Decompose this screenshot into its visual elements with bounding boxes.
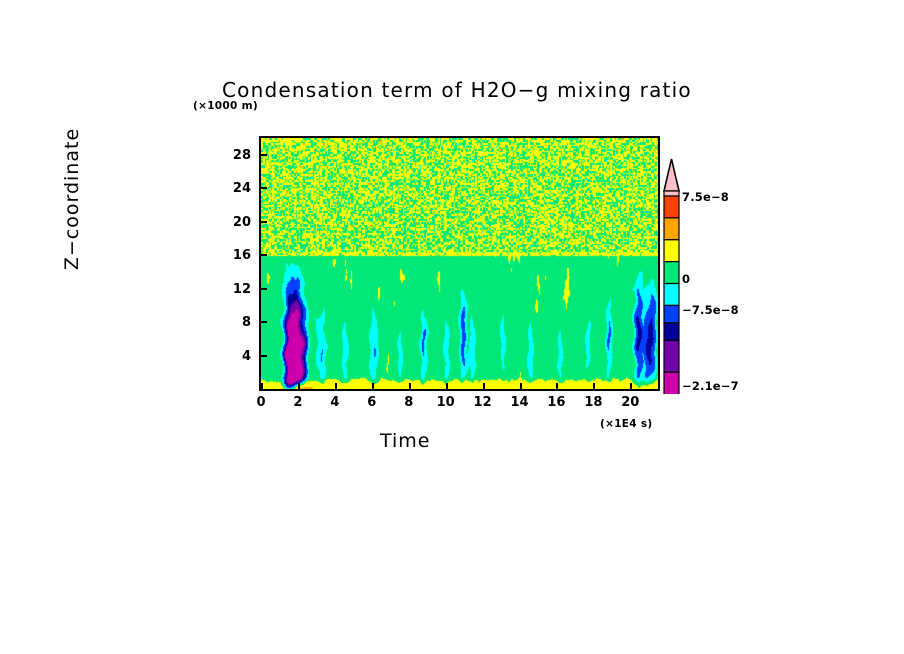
x-tick-mark (556, 383, 558, 389)
y-tick-mark (261, 154, 267, 156)
x-tick-label: 6 (360, 395, 384, 410)
y-axis-units: (×1000 m) (193, 100, 258, 112)
x-tick-label: 10 (434, 395, 458, 410)
x-tick-label: 0 (249, 395, 273, 410)
colorbar-tick-label: 0 (682, 272, 690, 286)
x-tick-mark (520, 383, 522, 389)
x-tick-mark (261, 383, 263, 389)
figure-canvas: Condensation term of H2O−g mixing ratio … (0, 0, 904, 654)
x-tick-label: 4 (323, 395, 347, 410)
y-tick-label: 24 (221, 181, 251, 196)
x-tick-mark (372, 383, 374, 389)
y-tick-label: 16 (221, 248, 251, 263)
colorbar-tick-label: −2.1e−7 (682, 379, 739, 393)
y-tick-mark (261, 288, 267, 290)
y-tick-mark (261, 355, 267, 357)
x-tick-mark (446, 383, 448, 389)
x-tick-label: 20 (618, 395, 642, 410)
x-tick-mark (409, 383, 411, 389)
x-tick-mark (593, 383, 595, 389)
y-tick-mark (261, 254, 267, 256)
colorbar-tick-label: −7.5e−8 (682, 303, 739, 317)
x-tick-mark (298, 383, 300, 389)
y-tick-label: 20 (221, 215, 251, 230)
x-axis-units: (×1E4 s) (600, 418, 653, 430)
y-tick-mark (261, 321, 267, 323)
colorbar-tick-label: 7.5e−8 (682, 190, 729, 204)
heatmap-plot-area (259, 136, 660, 391)
y-tick-label: 12 (221, 282, 251, 297)
x-tick-label: 14 (508, 395, 532, 410)
page-title: Condensation term of H2O−g mixing ratio (222, 78, 702, 102)
x-tick-label: 18 (581, 395, 605, 410)
y-tick-mark (261, 221, 267, 223)
y-tick-label: 8 (221, 315, 251, 330)
y-axis-label: Z−coordinate (61, 119, 83, 279)
heatmap-raster (261, 138, 658, 389)
x-tick-label: 2 (286, 395, 310, 410)
y-tick-label: 4 (221, 349, 251, 364)
x-tick-mark (483, 383, 485, 389)
x-tick-mark (630, 383, 632, 389)
x-tick-label: 12 (471, 395, 495, 410)
y-tick-mark (261, 187, 267, 189)
x-tick-mark (335, 383, 337, 389)
x-axis-label: Time (380, 430, 431, 452)
x-tick-label: 8 (397, 395, 421, 410)
y-tick-label: 28 (221, 148, 251, 163)
colorbar (663, 158, 678, 392)
x-tick-label: 16 (544, 395, 568, 410)
